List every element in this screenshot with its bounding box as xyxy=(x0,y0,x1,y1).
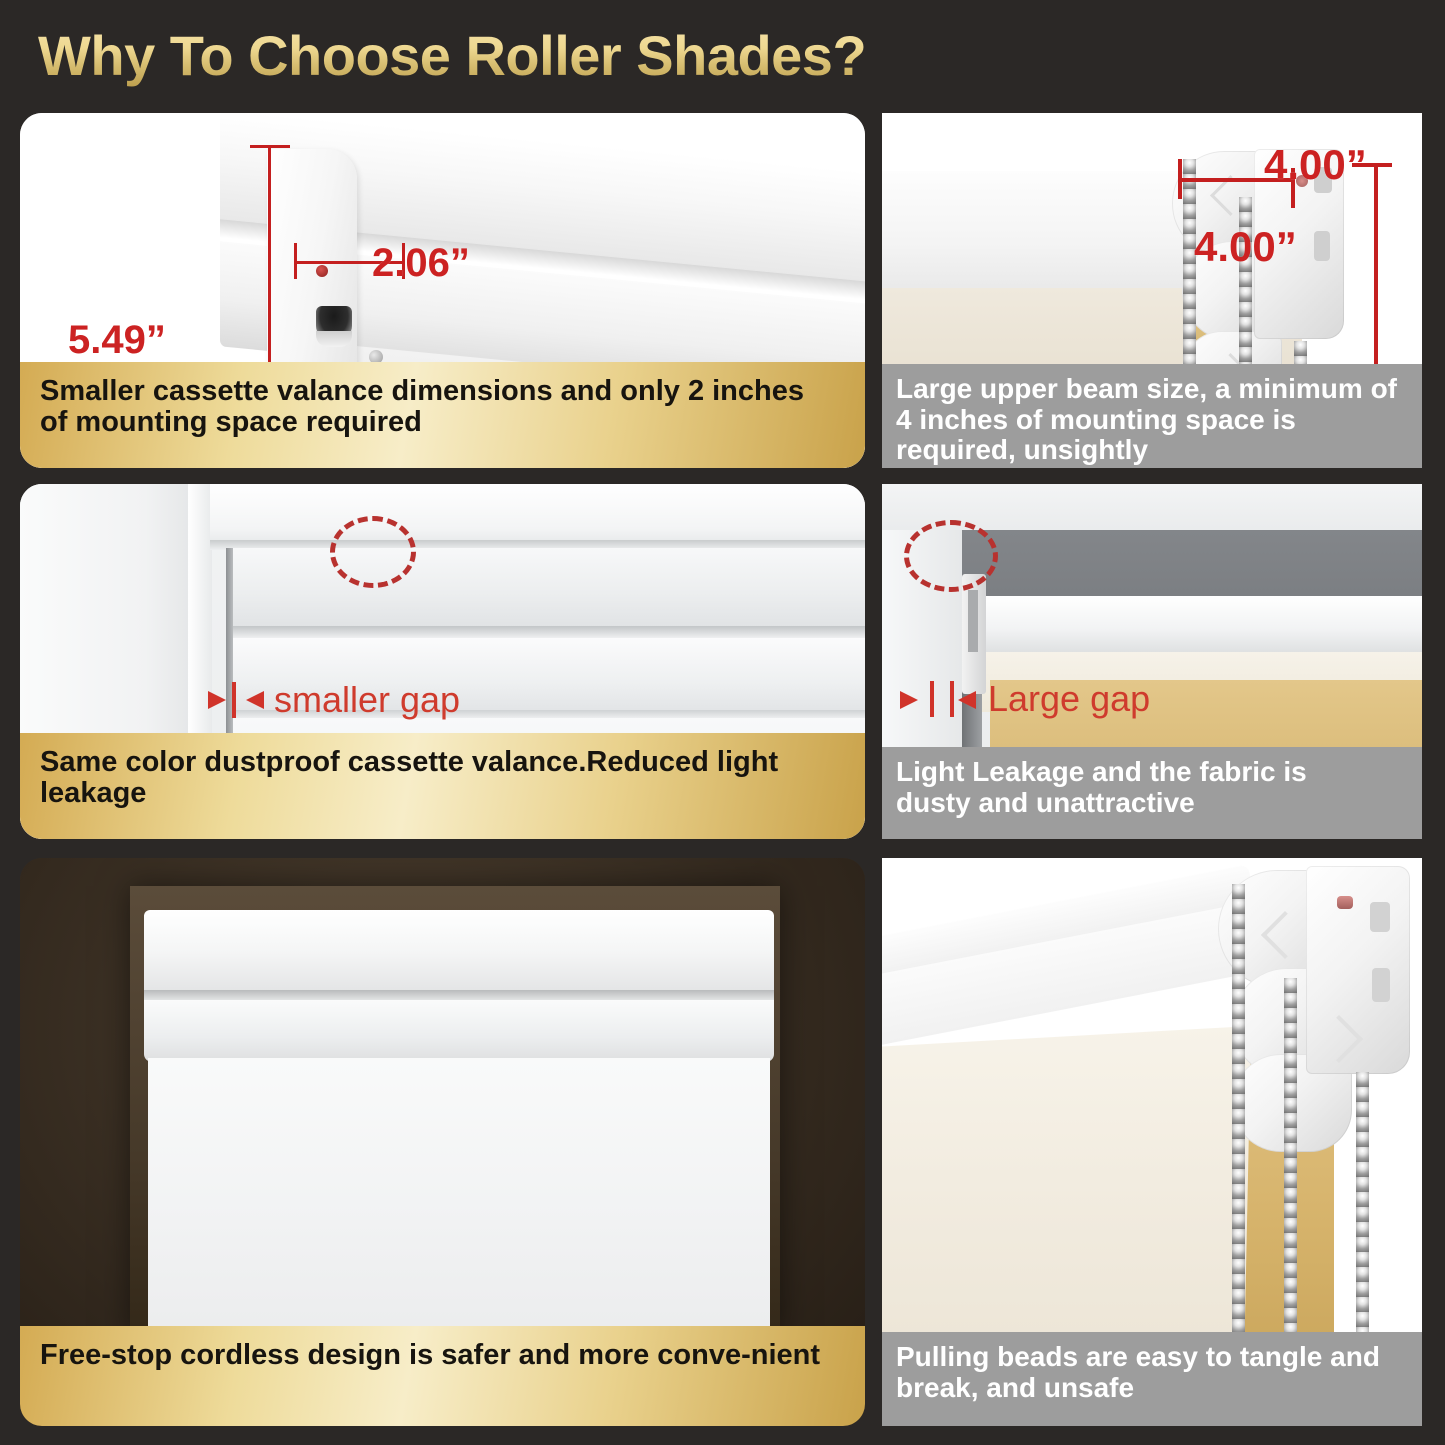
caption-bar-upper-beam: Large upper beam size, a minimum of 4 in… xyxy=(882,364,1422,468)
caption-bar-light-leakage: Light Leakage and the fabric is dusty an… xyxy=(882,747,1422,839)
panel-cordless-design: Free-stop cordless design is safer and m… xyxy=(20,858,865,1426)
caption-text: Free-stop cordless design is safer and m… xyxy=(40,1340,820,1371)
height-dimension-label: 5.49” xyxy=(68,318,166,363)
caption-bar-dustproof-valance: Same color dustproof cassette valance.Re… xyxy=(20,733,865,839)
panel-dustproof-valance: smaller gap Same color dustproof cassett… xyxy=(20,484,865,839)
gap-arrow-left xyxy=(958,691,976,709)
bead-chain xyxy=(1232,884,1245,1370)
caption-bar-pulling-beads: Pulling beads are easy to tangle and bre… xyxy=(882,1332,1422,1426)
page-title: Why To Choose Roller Shades? xyxy=(38,22,1338,90)
caption-bar-cordless-design: Free-stop cordless design is safer and m… xyxy=(20,1326,865,1426)
panel-upper-beam: 4.00” 4.00” Large upper beam size, a min… xyxy=(882,113,1422,468)
width-dimension-label: 2.06” xyxy=(372,241,470,286)
gap-arrow-right xyxy=(900,691,918,709)
caption-text: Same color dustproof cassette valance.Re… xyxy=(40,747,830,810)
caption-text: Pulling beads are easy to tangle and bre… xyxy=(896,1342,1396,1403)
large-gap-label: Large gap xyxy=(988,678,1150,720)
panel-pulling-beads: Pulling beads are easy to tangle and bre… xyxy=(882,858,1422,1426)
gap-highlight-ellipse xyxy=(904,520,998,592)
caption-text: Light Leakage and the fabric is dusty an… xyxy=(896,757,1366,818)
panel-cassette-valance: 5.49” 2.06” Smaller cassette valance dim… xyxy=(20,113,865,468)
panel-light-leakage: Large gap Light Leakage and the fabric i… xyxy=(882,484,1422,839)
bead-chain xyxy=(1356,1072,1369,1370)
gap-arrow-left xyxy=(246,691,264,709)
gap-highlight-ellipse xyxy=(330,516,416,588)
infographic-page: Why To Choose Roller Shades? xyxy=(0,0,1445,1445)
beam-height-dimension-label: 4.00” xyxy=(1194,223,1297,271)
gap-arrow-right xyxy=(208,691,226,709)
bead-chain xyxy=(1284,978,1297,1370)
caption-text: Large upper beam size, a minimum of 4 in… xyxy=(896,374,1406,466)
caption-text: Smaller cassette valance dimensions and … xyxy=(40,376,830,439)
smaller-gap-label: smaller gap xyxy=(274,679,460,721)
caption-bar-cassette-valance: Smaller cassette valance dimensions and … xyxy=(20,362,865,468)
